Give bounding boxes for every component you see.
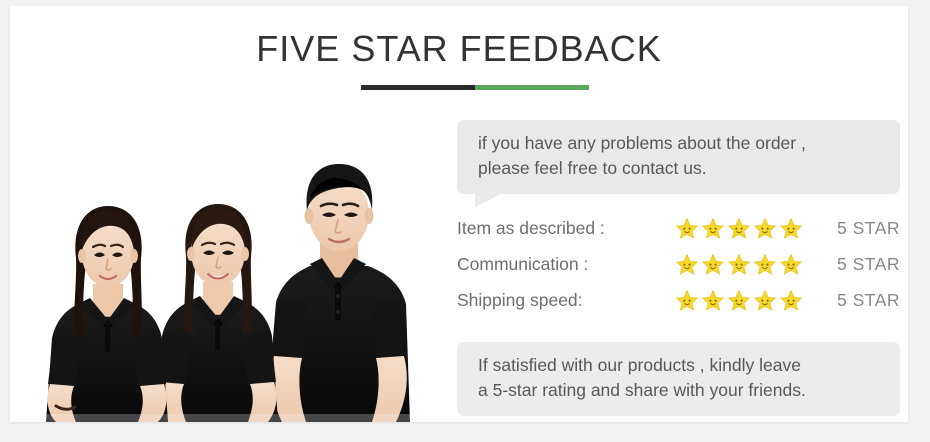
star-smiley-icon bbox=[701, 253, 725, 276]
speech-bubble-line-1: if you have any problems about the order… bbox=[478, 131, 886, 156]
star-smiley-icon bbox=[779, 253, 803, 276]
star-smiley-icon bbox=[753, 217, 777, 240]
rating-label: Item as described : bbox=[457, 218, 675, 239]
speech-bubble-line-2: please feel free to contact us. bbox=[478, 156, 886, 181]
team-photo-illustration bbox=[10, 106, 458, 422]
rating-row: Communication : 5 STAR bbox=[457, 246, 900, 282]
divider-dark-segment bbox=[361, 85, 475, 90]
star-smiley-icon bbox=[675, 253, 699, 276]
title-divider bbox=[361, 85, 589, 90]
star-smiley-icon bbox=[675, 217, 699, 240]
star-smiley-icon bbox=[727, 217, 751, 240]
footer-message-line-1: If satisfied with our products , kindly … bbox=[478, 353, 886, 378]
star-smiley-icon bbox=[701, 217, 725, 240]
star-smiley-icon bbox=[779, 289, 803, 312]
divider-green-segment bbox=[475, 85, 589, 90]
star-smiley-icon bbox=[753, 289, 777, 312]
feedback-card: FIVE STAR FEEDBACK bbox=[10, 6, 908, 422]
page-title: FIVE STAR FEEDBACK bbox=[10, 28, 908, 70]
rating-row: Shipping speed: 5 STAR bbox=[457, 282, 900, 318]
footer-message-line-2: a 5-star rating and share with your frie… bbox=[478, 378, 886, 403]
rating-row: Item as described : 5 STAR bbox=[457, 210, 900, 246]
star-smiley-icon bbox=[727, 289, 751, 312]
rating-value: 5 STAR bbox=[820, 218, 900, 239]
rating-label: Shipping speed: bbox=[457, 290, 675, 311]
star-smiley-icon bbox=[675, 289, 699, 312]
rating-value: 5 STAR bbox=[820, 254, 900, 275]
star-rating[interactable] bbox=[675, 217, 820, 240]
team-photo bbox=[10, 106, 458, 422]
star-smiley-icon bbox=[779, 217, 803, 240]
feedback-panel: if you have any problems about the order… bbox=[450, 110, 900, 410]
rating-label: Communication : bbox=[457, 254, 675, 275]
ratings-list: Item as described : 5 STAR Communication… bbox=[457, 210, 900, 318]
rating-value: 5 STAR bbox=[820, 290, 900, 311]
star-rating[interactable] bbox=[675, 289, 820, 312]
star-smiley-icon bbox=[701, 289, 725, 312]
star-smiley-icon bbox=[753, 253, 777, 276]
speech-bubble: if you have any problems about the order… bbox=[457, 120, 900, 194]
footer-message-box: If satisfied with our products , kindly … bbox=[457, 342, 900, 416]
star-smiley-icon bbox=[727, 253, 751, 276]
star-rating[interactable] bbox=[675, 253, 820, 276]
